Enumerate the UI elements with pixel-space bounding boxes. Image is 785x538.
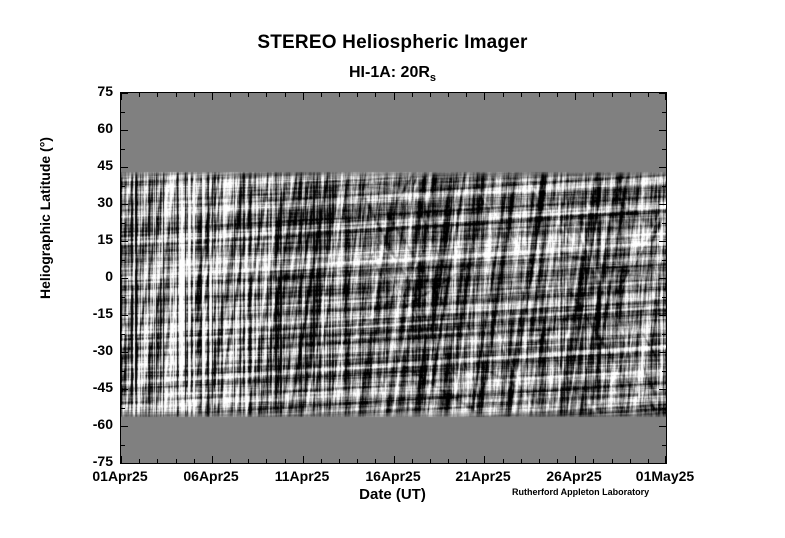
y-tick-label: 75 (97, 83, 113, 99)
y-tick-minor (121, 297, 125, 298)
y-tick-minor (121, 260, 125, 261)
x-tick-label: 16Apr25 (365, 468, 420, 484)
jmap-heatmap-canvas (121, 93, 666, 463)
x-tick-minor (230, 93, 231, 97)
x-tick-minor (139, 93, 140, 97)
x-tick-label: 11Apr25 (275, 468, 329, 484)
x-tick-minor (157, 459, 158, 463)
x-tick-minor (593, 93, 594, 97)
x-tick-minor (466, 93, 467, 97)
x-tick-major (121, 93, 122, 100)
x-tick-minor (321, 459, 322, 463)
x-axis-tick-labels: 01Apr2506Apr2511Apr2516Apr2521Apr2526Apr… (120, 468, 665, 488)
y-tick-label: 30 (97, 194, 113, 210)
y-tick-major (659, 463, 666, 464)
y-tick-minor (662, 149, 666, 150)
y-tick-minor (121, 334, 125, 335)
x-tick-minor (539, 93, 540, 97)
x-tick-minor (339, 459, 340, 463)
x-tick-minor (266, 459, 267, 463)
y-tick-major (121, 130, 128, 131)
y-tick-minor (121, 445, 125, 446)
x-tick-minor (557, 93, 558, 97)
y-tick-label: 0 (105, 268, 113, 284)
y-tick-minor (662, 260, 666, 261)
x-tick-minor (357, 459, 358, 463)
x-tick-minor (630, 93, 631, 97)
x-tick-major (212, 93, 213, 100)
plot-subtitle: HI-1A: 20Rs (0, 64, 785, 84)
y-tick-major (121, 278, 128, 279)
x-tick-minor (339, 93, 340, 97)
x-tick-minor (521, 459, 522, 463)
y-tick-minor (662, 186, 666, 187)
y-tick-minor (121, 371, 125, 372)
x-tick-label: 21Apr25 (455, 468, 510, 484)
x-tick-minor (503, 459, 504, 463)
x-tick-minor (139, 459, 140, 463)
x-tick-minor (285, 93, 286, 97)
y-tick-major (121, 204, 128, 205)
x-tick-minor (375, 93, 376, 97)
x-tick-major (575, 93, 576, 100)
x-tick-minor (448, 93, 449, 97)
x-tick-minor (612, 459, 613, 463)
y-tick-minor (121, 408, 125, 409)
x-axis-title: Date (UT) (0, 486, 785, 503)
x-tick-label: 01May25 (636, 468, 694, 484)
x-tick-major (484, 456, 485, 463)
y-tick-major (121, 352, 128, 353)
x-tick-minor (194, 93, 195, 97)
x-tick-major (212, 456, 213, 463)
x-tick-label: 06Apr25 (183, 468, 238, 484)
y-axis-tick-labels: 75604530150-15-30-45-60-75 (60, 92, 113, 462)
x-tick-minor (430, 93, 431, 97)
y-tick-minor (121, 223, 125, 224)
plot-subtitle-subscript: s (430, 72, 436, 84)
plot-subtitle-text: HI-1A: 20R (349, 64, 430, 81)
y-tick-major (659, 204, 666, 205)
x-tick-minor (194, 459, 195, 463)
y-tick-major (659, 389, 666, 390)
x-tick-minor (466, 459, 467, 463)
x-tick-major (394, 456, 395, 463)
x-tick-minor (357, 93, 358, 97)
x-tick-minor (521, 93, 522, 97)
x-tick-minor (248, 459, 249, 463)
x-tick-major (121, 456, 122, 463)
y-tick-minor (662, 112, 666, 113)
x-tick-minor (630, 459, 631, 463)
y-tick-minor (662, 408, 666, 409)
y-tick-label: -45 (93, 379, 113, 395)
y-tick-major (121, 93, 128, 94)
x-tick-major (575, 456, 576, 463)
x-tick-minor (176, 459, 177, 463)
y-tick-major (659, 315, 666, 316)
x-tick-major (484, 93, 485, 100)
jmap-plot-area (120, 92, 667, 464)
y-tick-major (659, 130, 666, 131)
y-tick-major (659, 426, 666, 427)
y-axis-title: Heliographic Latitude (°) (37, 68, 53, 368)
x-tick-major (665, 456, 666, 463)
y-tick-major (121, 315, 128, 316)
x-tick-minor (375, 459, 376, 463)
x-tick-minor (412, 93, 413, 97)
y-tick-minor (662, 297, 666, 298)
y-tick-major (659, 352, 666, 353)
y-tick-minor (121, 186, 125, 187)
y-tick-major (121, 241, 128, 242)
y-tick-label: -30 (93, 342, 113, 358)
x-tick-minor (176, 93, 177, 97)
x-tick-minor (285, 459, 286, 463)
x-tick-label: 26Apr25 (546, 468, 601, 484)
y-tick-label: 15 (97, 231, 113, 247)
y-tick-major (121, 463, 128, 464)
y-tick-label: 60 (97, 120, 113, 136)
x-tick-minor (648, 459, 649, 463)
y-tick-label: 45 (97, 157, 113, 173)
y-tick-label: -15 (93, 305, 113, 321)
x-tick-minor (448, 459, 449, 463)
x-tick-major (665, 93, 666, 100)
x-tick-minor (539, 459, 540, 463)
x-tick-minor (266, 93, 267, 97)
y-tick-label: -60 (93, 416, 113, 432)
x-tick-minor (503, 93, 504, 97)
y-tick-minor (121, 149, 125, 150)
page-title: STEREO Heliospheric Imager (0, 32, 785, 54)
x-tick-minor (430, 459, 431, 463)
y-tick-minor (662, 445, 666, 446)
x-tick-label: 01Apr25 (92, 468, 147, 484)
x-tick-minor (648, 93, 649, 97)
y-tick-major (121, 167, 128, 168)
x-tick-minor (248, 93, 249, 97)
y-tick-major (121, 426, 128, 427)
plot-title-text: STEREO Heliospheric Imager (257, 32, 527, 53)
y-tick-major (659, 167, 666, 168)
x-tick-major (303, 456, 304, 463)
x-tick-minor (157, 93, 158, 97)
credit-label: Rutherford Appleton Laboratory (512, 487, 649, 497)
x-tick-major (303, 93, 304, 100)
y-tick-major (121, 389, 128, 390)
x-tick-minor (230, 459, 231, 463)
x-tick-minor (412, 459, 413, 463)
y-tick-minor (121, 112, 125, 113)
x-tick-minor (593, 459, 594, 463)
x-tick-minor (321, 93, 322, 97)
y-tick-major (659, 278, 666, 279)
y-tick-minor (662, 334, 666, 335)
y-tick-minor (662, 223, 666, 224)
x-tick-major (394, 93, 395, 100)
x-tick-minor (557, 459, 558, 463)
y-tick-minor (662, 371, 666, 372)
x-tick-minor (612, 93, 613, 97)
y-tick-major (659, 241, 666, 242)
y-tick-label: -75 (93, 453, 113, 469)
